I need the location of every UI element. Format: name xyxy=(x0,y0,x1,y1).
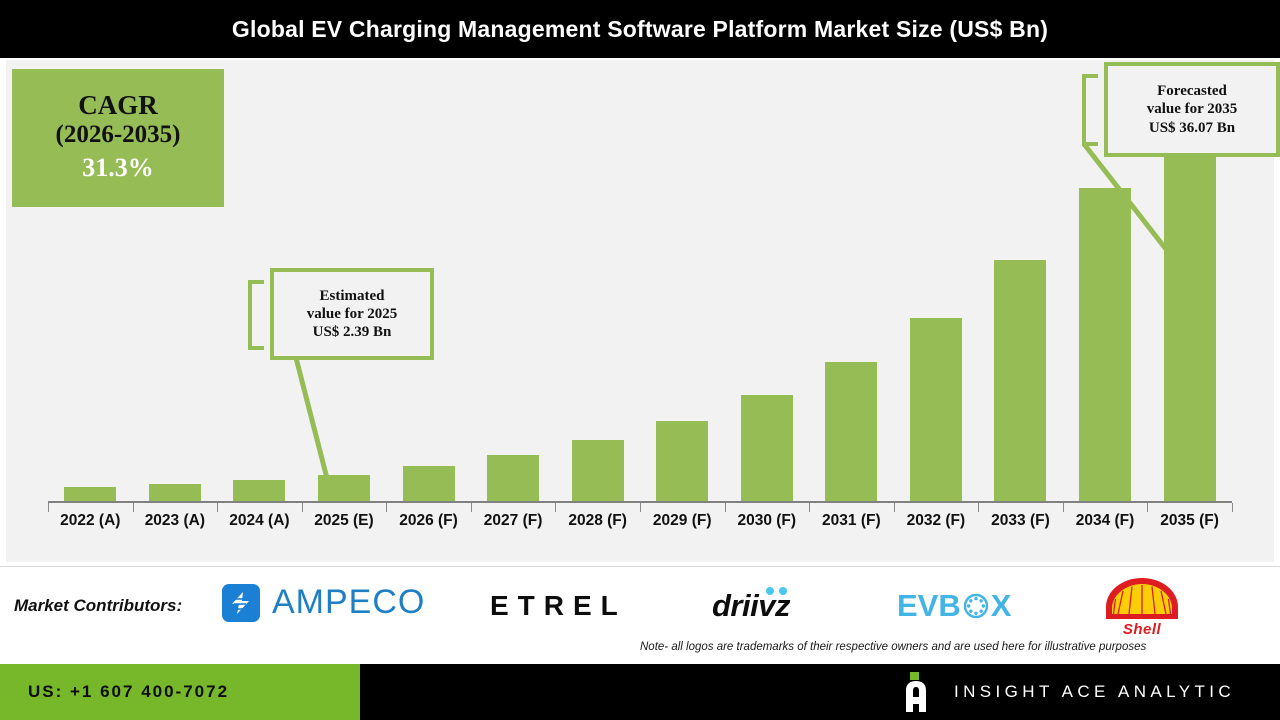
bar-slot xyxy=(640,60,724,502)
x-axis-label: 2035 (F) xyxy=(1148,512,1232,542)
estimated-line-1: Estimated xyxy=(320,287,385,305)
logo-etrel: ETREL xyxy=(490,590,627,622)
infographic-page: Global EV Charging Management Software P… xyxy=(0,0,1280,720)
bar[interactable] xyxy=(994,260,1046,502)
forecasted-line-3: US$ 36.07 Bn xyxy=(1149,119,1235,137)
x-axis-tick xyxy=(978,503,979,512)
forecasted-value-callout: Forecasted value for 2035 US$ 36.07 Bn xyxy=(1104,62,1280,157)
ampeco-wordmark: AMPECO xyxy=(272,583,425,622)
chart-panel: CAGR (2026-2035) 31.3% 2022 (A)2023 (A)2… xyxy=(6,60,1274,562)
x-axis-tick xyxy=(894,503,895,512)
evbox-wordmark-after: X xyxy=(991,588,1012,624)
footer-bar: US: +1 607 400-7072 INSIGHT ACE ANALYTIC xyxy=(0,664,1280,720)
logo-trademark-note: Note- all logos are trademarks of their … xyxy=(640,641,1146,653)
footer-phone-number[interactable]: US: +1 607 400-7072 xyxy=(28,682,229,702)
bar[interactable] xyxy=(910,318,962,502)
x-axis-tick xyxy=(725,503,726,512)
bar-slot xyxy=(978,60,1062,502)
bar-slot xyxy=(556,60,640,502)
driivz-dots-icon xyxy=(764,587,794,597)
bar[interactable] xyxy=(403,466,455,502)
x-axis-label: 2024 (A) xyxy=(217,512,301,542)
x-axis-tick xyxy=(386,503,387,512)
x-axis-tick xyxy=(1147,503,1148,512)
bar[interactable] xyxy=(656,421,708,502)
x-axis-tick xyxy=(809,503,810,512)
x-axis-label: 2032 (F) xyxy=(894,512,978,542)
bar-slot xyxy=(133,60,217,502)
x-axis-label: 2022 (A) xyxy=(48,512,132,542)
evbox-circle-icon xyxy=(962,592,990,620)
bar[interactable] xyxy=(64,487,116,502)
estimated-line-2: value for 2025 xyxy=(307,305,398,323)
x-axis-label: 2034 (F) xyxy=(1063,512,1147,542)
x-axis-label: 2029 (F) xyxy=(640,512,724,542)
x-axis-label: 2026 (F) xyxy=(387,512,471,542)
logo-evbox: EVB X xyxy=(897,588,1011,624)
logo-ampeco: AMPECO xyxy=(222,583,425,622)
x-axis-tick xyxy=(1232,503,1233,512)
bar-slot xyxy=(725,60,809,502)
insightace-logo-icon xyxy=(900,672,932,712)
bar[interactable] xyxy=(741,395,793,502)
logo-driivz: driivz xyxy=(712,588,790,624)
shell-wordmark: Shell xyxy=(1104,621,1180,638)
logo-shell: Shell xyxy=(1104,577,1180,639)
forecasted-callout-bracket xyxy=(1082,74,1098,146)
forecasted-line-2: value for 2035 xyxy=(1147,100,1238,118)
x-axis-tick xyxy=(1063,503,1064,512)
x-axis-label: 2033 (F) xyxy=(978,512,1062,542)
x-axis-label: 2031 (F) xyxy=(809,512,893,542)
estimated-callout-bracket xyxy=(248,280,264,350)
bar[interactable] xyxy=(825,362,877,502)
bar-slot xyxy=(471,60,555,502)
estimated-line-3: US$ 2.39 Bn xyxy=(313,323,392,341)
bar-slot xyxy=(48,60,132,502)
x-axis-label: 2028 (F) xyxy=(556,512,640,542)
bar-slot xyxy=(809,60,893,502)
x-axis-tick xyxy=(48,503,49,512)
x-axis-label: 2023 (A) xyxy=(133,512,217,542)
bar[interactable] xyxy=(572,440,624,502)
bar-series xyxy=(48,60,1232,502)
bar[interactable] xyxy=(149,484,201,502)
forecasted-line-1: Forecasted xyxy=(1157,82,1227,100)
x-axis-tick xyxy=(555,503,556,512)
bar[interactable] xyxy=(487,455,539,502)
estimated-callout-leader xyxy=(246,350,366,510)
x-axis-label: 2027 (F) xyxy=(471,512,555,542)
title-bar: Global EV Charging Management Software P… xyxy=(0,0,1280,58)
footer-brand: INSIGHT ACE ANALYTIC xyxy=(900,664,1235,720)
x-axis-label: 2030 (F) xyxy=(725,512,809,542)
x-axis-labels: 2022 (A)2023 (A)2024 (A)2025 (E)2026 (F)… xyxy=(48,512,1232,542)
ampeco-bolt-icon xyxy=(222,584,260,622)
page-title: Global EV Charging Management Software P… xyxy=(232,16,1048,43)
footer-brand-name: INSIGHT ACE ANALYTIC xyxy=(954,682,1235,702)
estimated-value-callout: Estimated value for 2025 US$ 2.39 Bn xyxy=(270,268,434,360)
evbox-wordmark-before: EVB xyxy=(897,588,961,624)
x-axis-tick xyxy=(133,503,134,512)
x-axis-tick xyxy=(217,503,218,512)
forecasted-callout-leader xyxy=(1066,144,1206,274)
x-axis-label: 2025 (E) xyxy=(302,512,386,542)
footer-phone-block: US: +1 607 400-7072 xyxy=(0,664,360,720)
shell-pecten-icon xyxy=(1104,577,1180,623)
bar-slot xyxy=(894,60,978,502)
x-axis-tick xyxy=(640,503,641,512)
x-axis-tick xyxy=(471,503,472,512)
market-contributors-label: Market Contributors: xyxy=(14,596,182,616)
